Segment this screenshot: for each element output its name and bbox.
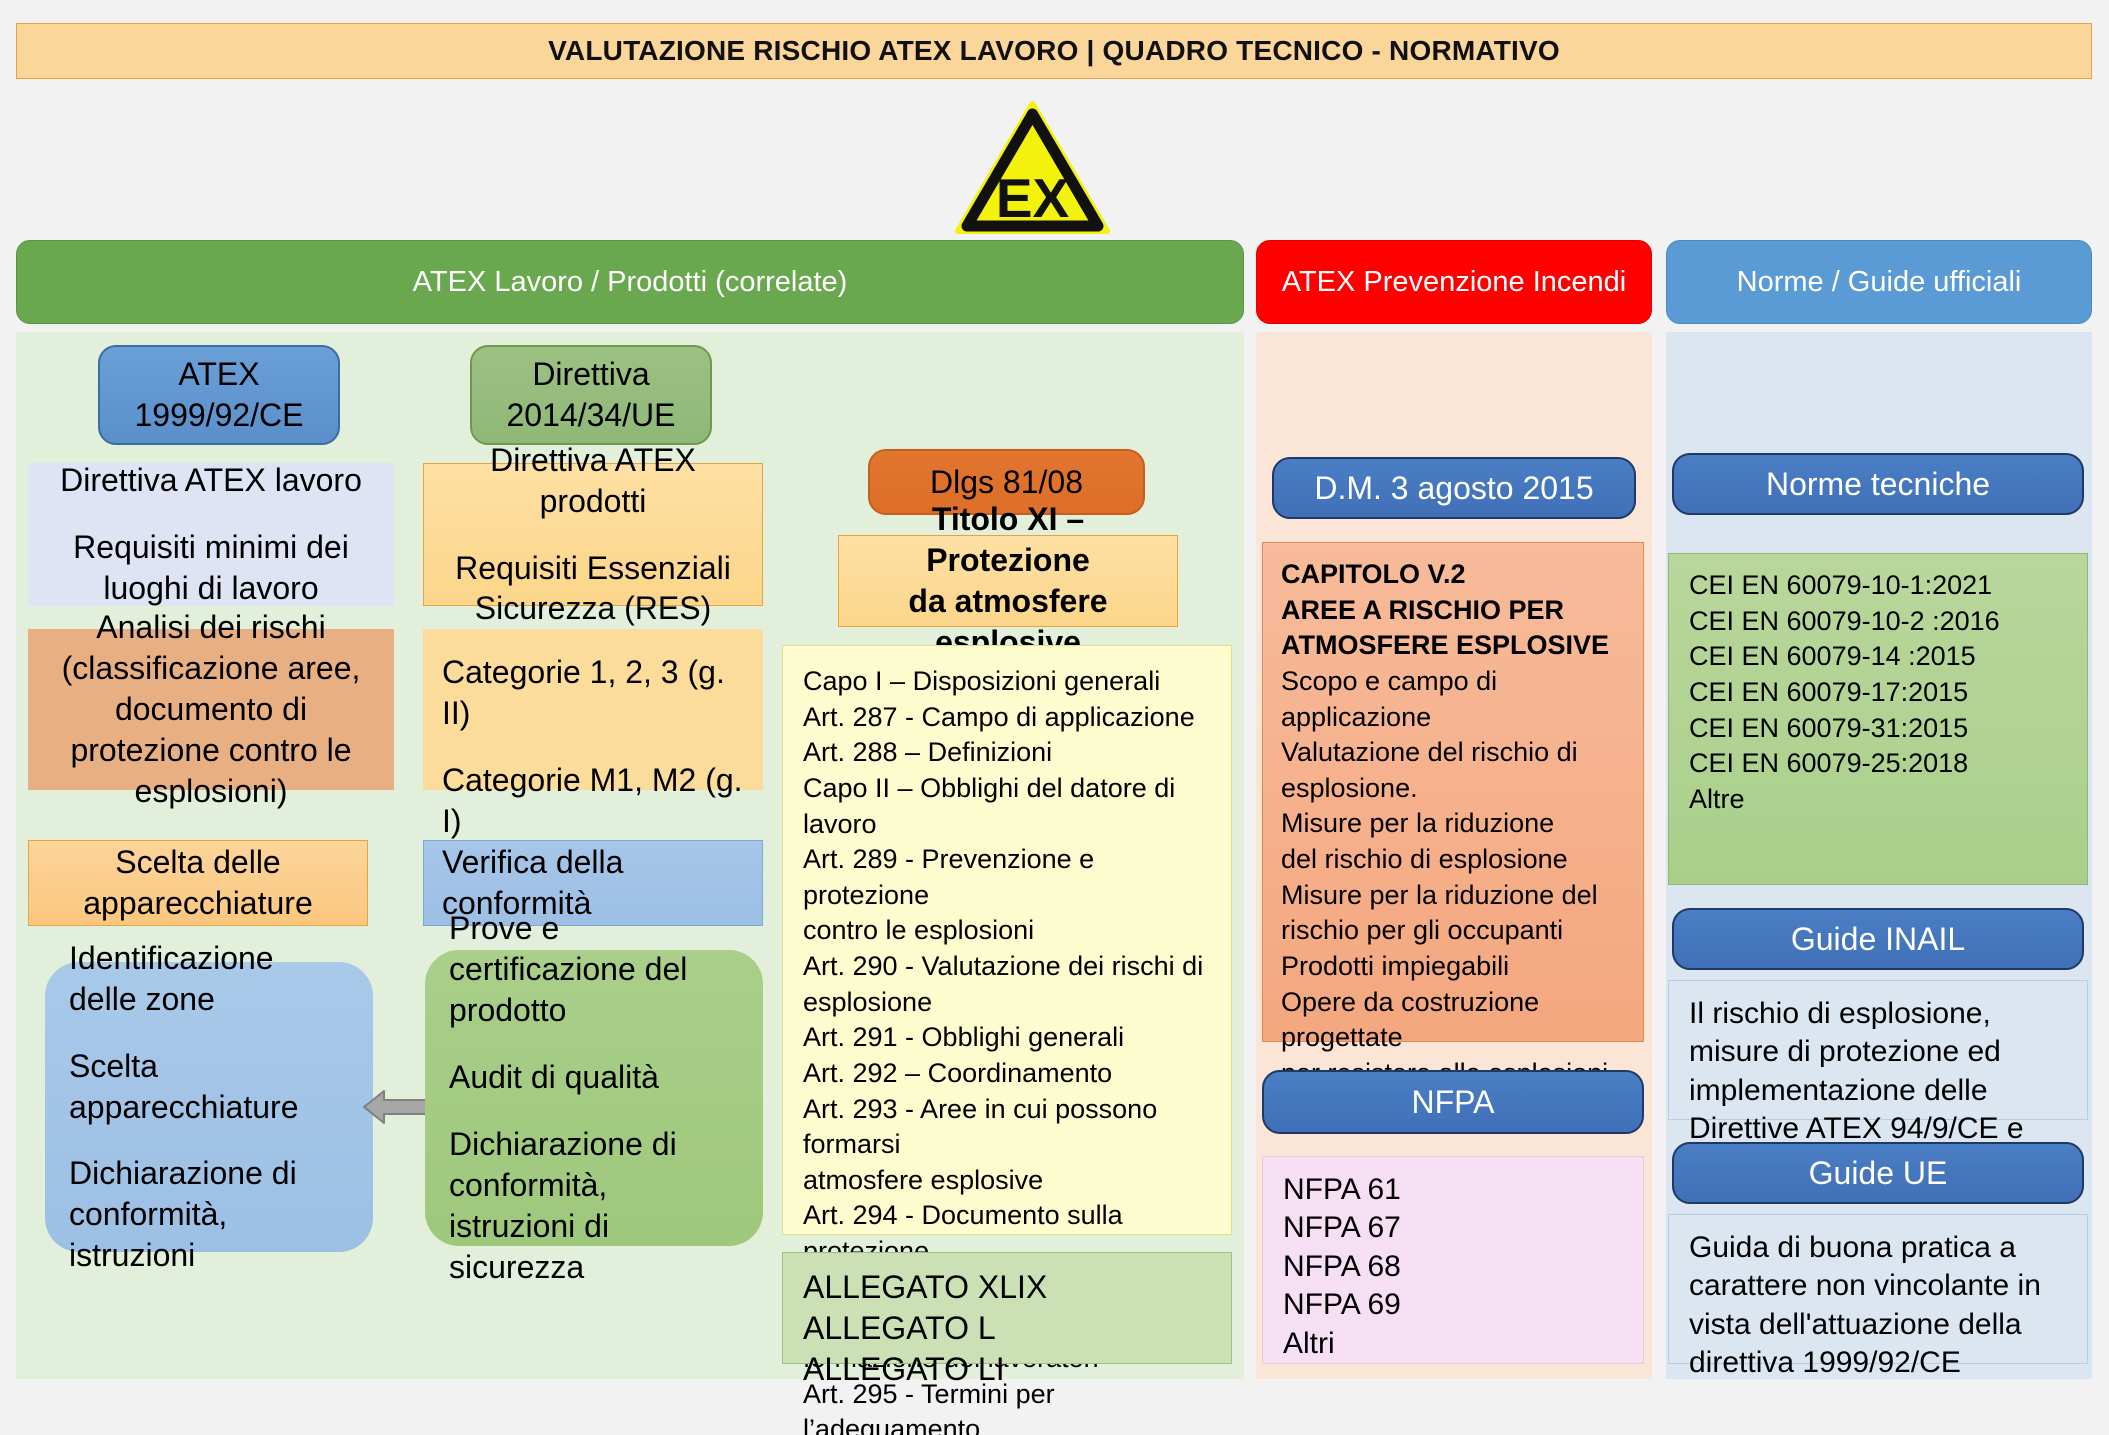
svg-text:EX: EX [996,167,1070,229]
direttiva-prodotti-line-2: Requisiti Essenziali Sicurezza (RES) [442,548,744,630]
direttiva-pill-line-1: Direttiva [472,354,710,395]
capitolo-v2-title: CAPITOLO V.2 AREE A RISCHIO PER ATMOSFER… [1281,557,1609,664]
scelta-apparecchiature-box: Scelta delle apparecchiature [28,840,368,926]
prove-line-3: Dichiarazione di conformità, istruzioni … [449,1124,739,1288]
cei-list-text: CEI EN 60079-10-1:2021 CEI EN 60079-10-2… [1689,568,2000,817]
prove-line-2: Audit di qualità [449,1057,739,1098]
column-header-atex-incendi: ATEX Prevenzione Incendi [1256,240,1652,324]
capitolo-v2-body: Scopo e campo di applicazione Valutazion… [1281,664,1625,1127]
norme-tecniche-pill[interactable]: Norme tecniche [1672,453,2084,515]
column-header-atex-lavoro: ATEX Lavoro / Prodotti (correlate) [16,240,1244,324]
dm-3-agosto-2015-pill[interactable]: D.M. 3 agosto 2015 [1272,457,1636,519]
allegati-box: ALLEGATO XLIX ALLEGATO L ALLEGATO LI [782,1252,1232,1364]
capitolo-v2-box: CAPITOLO V.2 AREE A RISCHIO PER ATMOSFER… [1262,542,1644,1042]
nfpa-list-text: NFPA 61 NFPA 67 NFPA 68 NFPA 69 Altri [1283,1171,1401,1363]
nfpa-list-box: NFPA 61 NFPA 67 NFPA 68 NFPA 69 Altri [1262,1156,1644,1364]
titolo-xi-box: Titolo XI – Protezione da atmosfere espl… [838,535,1178,627]
atex-pill-line-1: ATEX [100,354,338,395]
guide-inail-text-box: Il rischio di esplosione, misure di prot… [1668,980,2088,1120]
atex-pill-line-2: 1999/92/CE [100,395,338,436]
cei-list-box: CEI EN 60079-10-1:2021 CEI EN 60079-10-2… [1668,553,2088,885]
guide-ue-pill[interactable]: Guide UE [1672,1142,2084,1204]
column-header-norme-guide: Norme / Guide ufficiali [1666,240,2092,324]
direttiva-atex-prodotti-box: Direttiva ATEX prodotti Requisiti Essenz… [423,463,763,606]
page-title: VALUTAZIONE RISCHIO ATEX LAVORO | QUADRO… [16,23,2092,79]
diagram-canvas: VALUTAZIONE RISCHIO ATEX LAVORO | QUADRO… [0,0,2109,1435]
guide-ue-text-box: Guida di buona pratica a carattere non v… [1668,1214,2088,1364]
identificazione-line-1: Identificazione delle zone [69,938,349,1020]
direttiva-2014-pill[interactable]: Direttiva 2014/34/UE [470,345,712,445]
direttiva-atex-lavoro-line-1: Direttiva ATEX lavoro [47,460,375,501]
nfpa-pill[interactable]: NFPA [1262,1070,1644,1134]
direttiva-atex-lavoro-box: Direttiva ATEX lavoro Requisiti minimi d… [28,463,394,606]
atex-1999-pill[interactable]: ATEX 1999/92/CE [98,345,340,445]
ex-warning-triangle-icon: EX [955,100,1110,235]
identificazione-line-3: Dichiarazione di conformità, istruzioni [69,1153,349,1276]
titolo-xi-line-1: Titolo XI – Protezione [857,499,1159,581]
direttiva-atex-lavoro-line-2: Requisiti minimi dei luoghi di lavoro [47,527,375,609]
direttiva-pill-line-2: 2014/34/UE [472,395,710,436]
identificazione-zone-box: Identificazione delle zone Scelta appare… [45,962,373,1252]
prove-line-1: Prove e certificazione del prodotto [449,908,739,1031]
categorie-box: Categorie 1, 2, 3 (g. II) Categorie M1, … [423,629,763,790]
allegati-text: ALLEGATO XLIX ALLEGATO L ALLEGATO LI [803,1267,1047,1390]
analisi-dei-rischi-box: Analisi dei rischi (classificazione aree… [28,629,394,790]
direttiva-prodotti-line-1: Direttiva ATEX prodotti [442,440,744,522]
verifica-line-1: Verifica della [442,842,744,883]
articoli-list-box: Capo I – Disposizioni generali Art. 287 … [782,645,1232,1235]
identificazione-line-2: Scelta apparecchiature [69,1046,349,1128]
categorie-line-1: Categorie 1, 2, 3 (g. II) [442,652,744,734]
categorie-line-2: Categorie M1, M2 (g. I) [442,760,744,842]
prove-certificazione-box: Prove e certificazione del prodotto Audi… [425,950,763,1246]
guide-inail-pill[interactable]: Guide INAIL [1672,908,2084,970]
